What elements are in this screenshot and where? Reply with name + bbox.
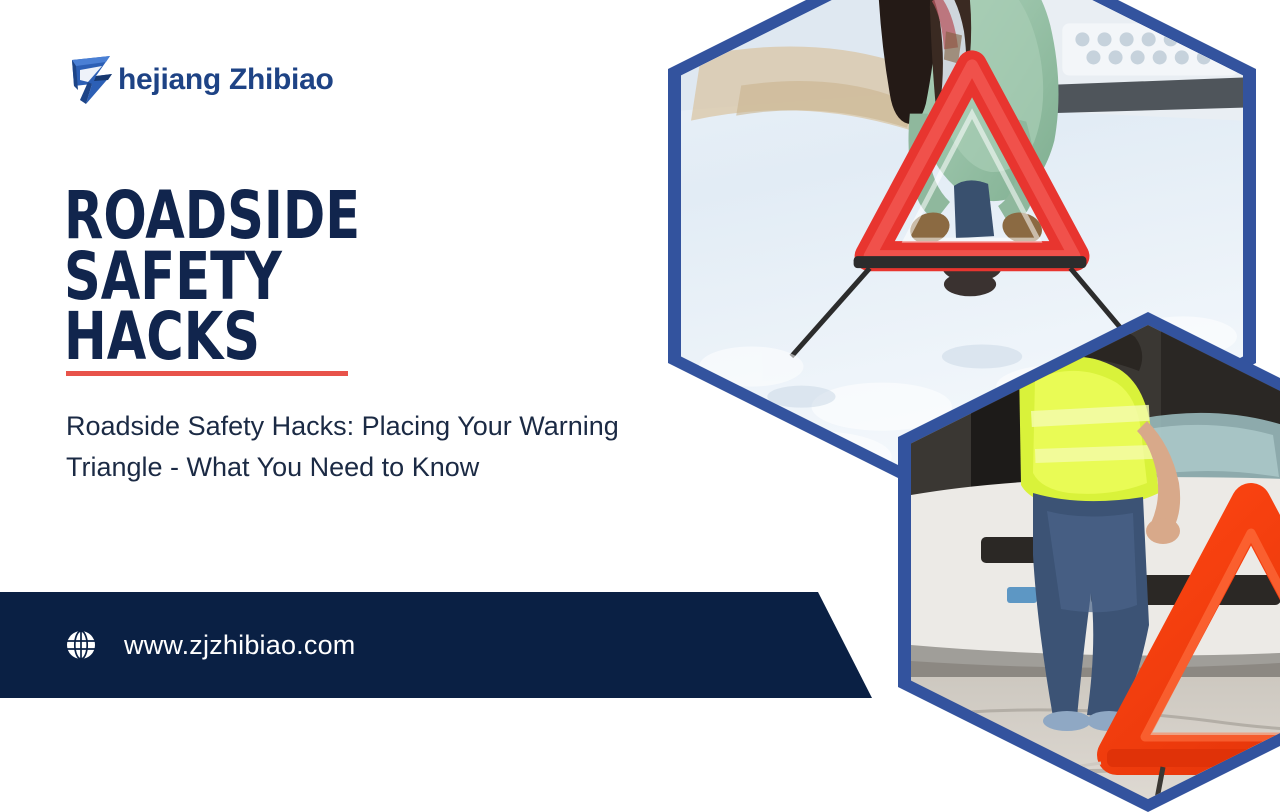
- headline-line-1: ROADSIDE SAFETY: [64, 186, 546, 307]
- poster-canvas: hejiang Zhibiao ROADSIDE SAFETY HACKS Ro…: [0, 0, 1280, 720]
- footer-bar: www.zjzhibiao.com: [0, 592, 872, 698]
- title-divider: [66, 371, 348, 376]
- headline-line-2: HACKS: [64, 307, 546, 368]
- hero-image-bottom: [898, 312, 1280, 812]
- brand-logo[interactable]: hejiang Zhibiao: [66, 52, 334, 108]
- zhibiao-z-logo-icon: [66, 52, 118, 108]
- website-url[interactable]: www.zjzhibiao.com: [124, 630, 355, 661]
- subtitle: Roadside Safety Hacks: Placing Your Warn…: [66, 406, 676, 488]
- hi-vis-vest-breakdown-warning-triangle-photo: [911, 325, 1280, 799]
- globe-icon: [64, 628, 98, 662]
- page-title: ROADSIDE SAFETY HACKS: [64, 186, 546, 368]
- brand-name: hejiang Zhibiao: [118, 65, 334, 95]
